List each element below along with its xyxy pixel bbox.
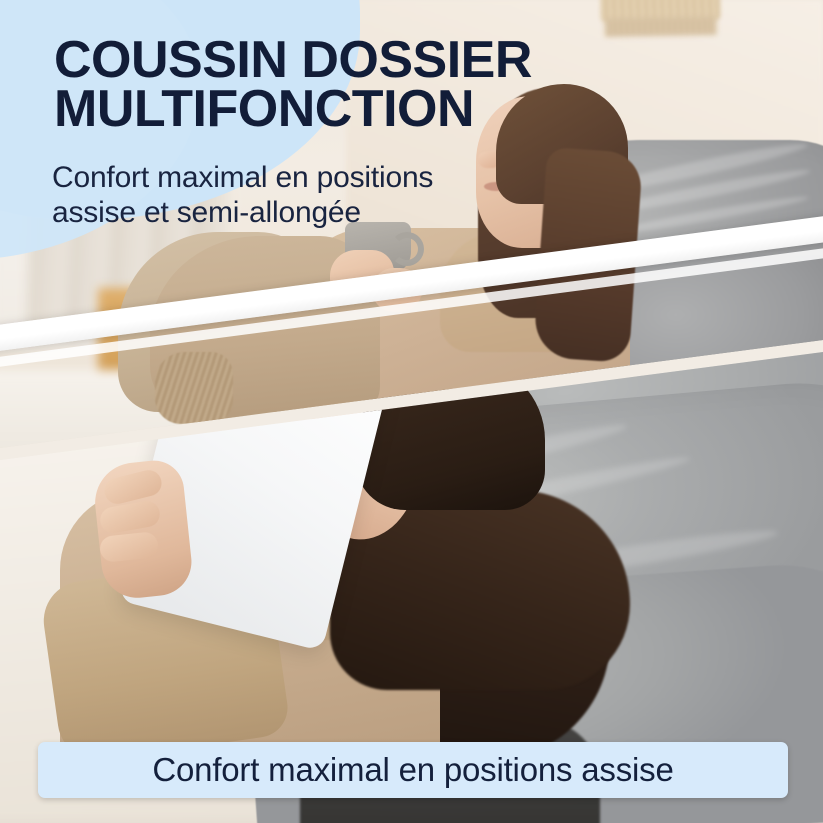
subtitle-line-2: assise et semi-allongée xyxy=(52,195,433,230)
bottom-caption-text: Confort maximal en positions assise xyxy=(152,751,673,789)
page-subtitle: Confort maximal en positions assise et s… xyxy=(52,160,433,231)
woman-reclined-hair-top xyxy=(355,360,545,510)
bottom-caption-banner: Confort maximal en positions assise xyxy=(38,742,788,798)
macrame-wall-hanging xyxy=(600,0,721,23)
subtitle-line-1: Confort maximal en positions xyxy=(52,160,433,195)
headline-line-1: COUSSIN DOSSIER xyxy=(54,36,532,85)
page-title: COUSSIN DOSSIER MULTIFONCTION xyxy=(54,36,532,135)
woman-seated-nose xyxy=(478,152,498,168)
product-poster: COUSSIN DOSSIER MULTIFONCTION Confort ma… xyxy=(0,0,823,823)
headline-line-2: MULTIFONCTION xyxy=(54,85,532,134)
